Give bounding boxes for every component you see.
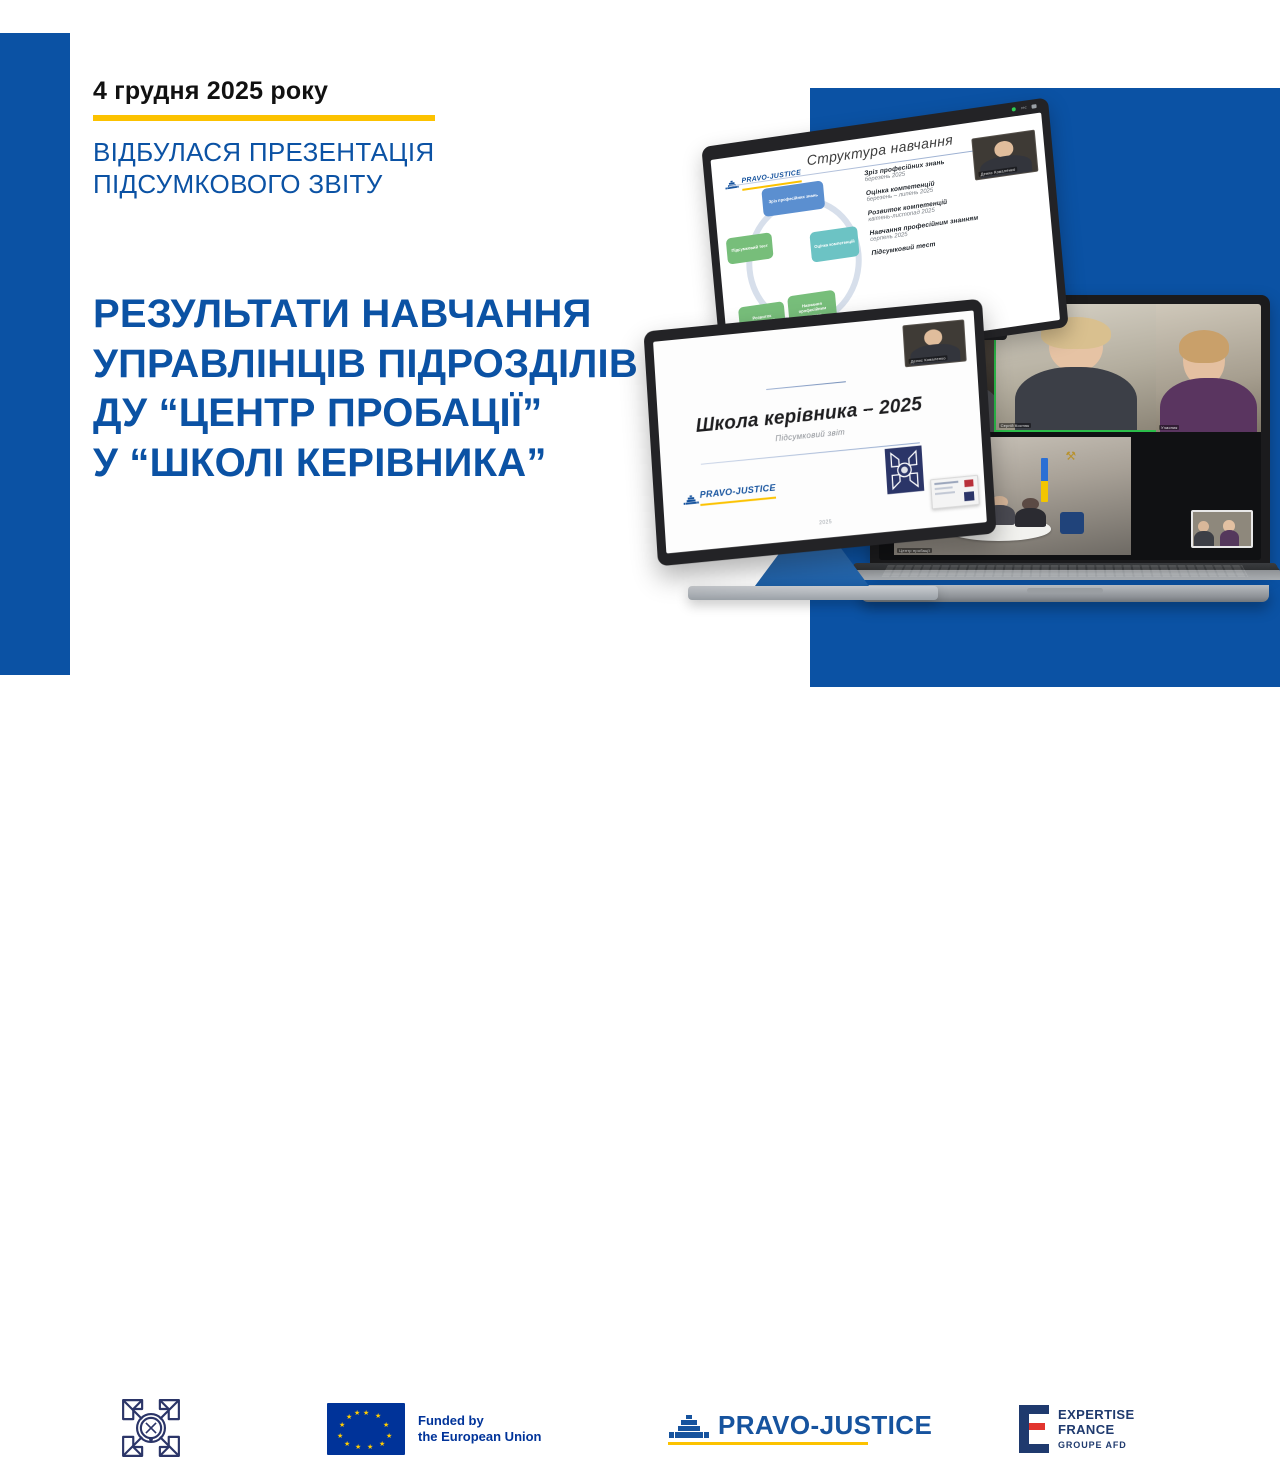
keyboard-keys bbox=[881, 565, 1248, 577]
video-tile[interactable]: Учасник bbox=[1156, 304, 1261, 432]
self-view-thumbnail[interactable] bbox=[1191, 510, 1253, 548]
shared-document-thumbnail[interactable] bbox=[930, 475, 980, 510]
event-date: 4 грудня 2025 року bbox=[93, 78, 653, 106]
slide-logo: PRAVO-JUSTICE bbox=[682, 478, 776, 508]
eu-text-line-2: the European Union bbox=[418, 1429, 542, 1445]
probation-emblem-icon bbox=[882, 442, 927, 498]
laptop-trackpad-notch bbox=[1027, 588, 1103, 593]
front-monitor: Школа керівника – 2025 Підсумковий звіт bbox=[643, 299, 996, 567]
kicker-line-1: ВІДБУЛАСЯ ПРЕЗЕНТАЦІЯ bbox=[93, 136, 653, 168]
eu-funding-text: Funded by the European Union bbox=[418, 1413, 542, 1446]
laptop-keyboard-deck bbox=[844, 563, 1280, 580]
footer-logos: ★ ★ ★ ★ ★ ★ ★ ★ ★ ★ ★ ★ Funded by the Eu… bbox=[0, 687, 1280, 787]
eu-funding-logo: ★ ★ ★ ★ ★ ★ ★ ★ ★ ★ ★ ★ Funded by the Eu… bbox=[327, 1403, 542, 1455]
battery-icon bbox=[1031, 104, 1036, 109]
pravo-justice-building-icon bbox=[668, 1413, 710, 1439]
pravo-justice-logo: PRAVO-JUSTICE bbox=[668, 1410, 932, 1441]
laptop-base bbox=[855, 563, 1275, 607]
participant-name: Учасник bbox=[1159, 425, 1179, 430]
header-block: 4 грудня 2025 року ВІДБУЛАСЯ ПРЕЗЕНТАЦІЯ… bbox=[93, 78, 653, 200]
left-blue-bar bbox=[0, 33, 70, 675]
ef-line-1: EXPERTISE bbox=[1058, 1408, 1135, 1423]
participant-name: Центр пробації bbox=[897, 548, 932, 553]
expertise-france-mark-icon bbox=[1019, 1405, 1049, 1453]
pravo-justice-text: PRAVO-JUSTICE bbox=[718, 1410, 932, 1441]
slide-top-divider bbox=[766, 381, 846, 390]
monitor-foot bbox=[688, 586, 938, 600]
eu-flag-icon: ★ ★ ★ ★ ★ ★ ★ ★ ★ ★ ★ ★ bbox=[327, 1403, 405, 1455]
probation-cross-icon bbox=[113, 1390, 189, 1466]
participant-name: Сергій Костюк bbox=[999, 423, 1032, 428]
yellow-divider bbox=[93, 115, 435, 121]
pravo-justice-building-icon bbox=[683, 491, 698, 502]
kicker-text: ВІДБУЛАСЯ ПРЕЗЕНТАЦІЯ ПІДСУМКОВОГО ЗВІТУ bbox=[93, 136, 653, 200]
ef-line-2: FRANCE bbox=[1058, 1423, 1135, 1438]
poster-canvas: 4 грудня 2025 року ВІДБУЛАСЯ ПРЕЗЕНТАЦІЯ… bbox=[0, 0, 1280, 787]
expertise-france-logo: EXPERTISE FRANCE GROUPE AFD bbox=[1019, 1405, 1135, 1453]
presenter-thumbnail[interactable]: Денис Коваленко bbox=[902, 319, 966, 367]
expertise-france-text: EXPERTISE FRANCE GROUPE AFD bbox=[1058, 1408, 1135, 1450]
probation-center-logo bbox=[113, 1390, 189, 1466]
kicker-line-2: ПІДСУМКОВОГО ЗВІТУ bbox=[93, 168, 653, 200]
recording-dot-icon bbox=[1012, 106, 1016, 111]
front-monitor-screen: Школа керівника – 2025 Підсумковий звіт bbox=[653, 310, 987, 553]
pravo-justice-underline bbox=[668, 1442, 868, 1445]
eu-text-line-1: Funded by bbox=[418, 1413, 542, 1429]
ef-line-3: GROUPE AFD bbox=[1058, 1440, 1135, 1450]
device-cluster: Денис Коваленко Сергій Костюк bbox=[600, 110, 1280, 630]
